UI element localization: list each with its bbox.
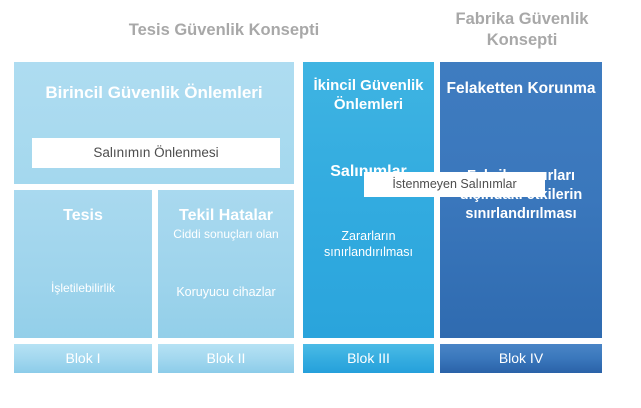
callout-undesired-emissions: İstenmeyen Salınımlar <box>364 172 545 197</box>
block-secondary-safety-measures: İkincil Güvenlik Önlemleri Salınımlar Za… <box>303 62 434 338</box>
block-facility-title: Tesis <box>14 206 152 226</box>
block-facility-detail: İşletilebilirlik <box>14 280 152 296</box>
block-disaster-protection: Felaketten Korunma Fabrika sınırları dış… <box>440 62 602 338</box>
heading-factory-safety-concept: Fabrika Güvenlik Konsepti <box>440 9 604 51</box>
block-secondary-title: İkincil Güvenlik Önlemleri <box>303 76 434 114</box>
blok-label-4: Blok IV <box>440 344 602 373</box>
block-single-faults-qualifier: Ciddi sonuçları olan <box>158 227 294 242</box>
block-secondary-detail: Zararların sınırlandırılması <box>303 228 434 260</box>
block-disaster-title: Felaketten Korunma <box>440 78 602 99</box>
block-single-faults: Tekil Hatalar Ciddi sonuçları olan Koruy… <box>158 190 294 338</box>
block-facility: Tesis İşletilebilirlik <box>14 190 152 338</box>
blok-label-2: Blok II <box>158 344 294 373</box>
block-single-faults-title: Tekil Hatalar <box>158 206 294 226</box>
heading-facility-safety-concept: Tesis Güvenlik Konsepti <box>14 20 434 41</box>
blok-label-3: Blok III <box>303 344 434 373</box>
callout-emission-prevention: Salınımın Önlenmesi <box>32 138 280 168</box>
block-primary-title: Birincil Güvenlik Önlemleri <box>14 82 294 104</box>
blok-label-1: Blok I <box>14 344 152 373</box>
block-single-faults-detail: Koruyucu cihazlar <box>158 284 294 300</box>
diagram-canvas: Tesis Güvenlik Konsepti Fabrika Güvenlik… <box>0 0 641 408</box>
